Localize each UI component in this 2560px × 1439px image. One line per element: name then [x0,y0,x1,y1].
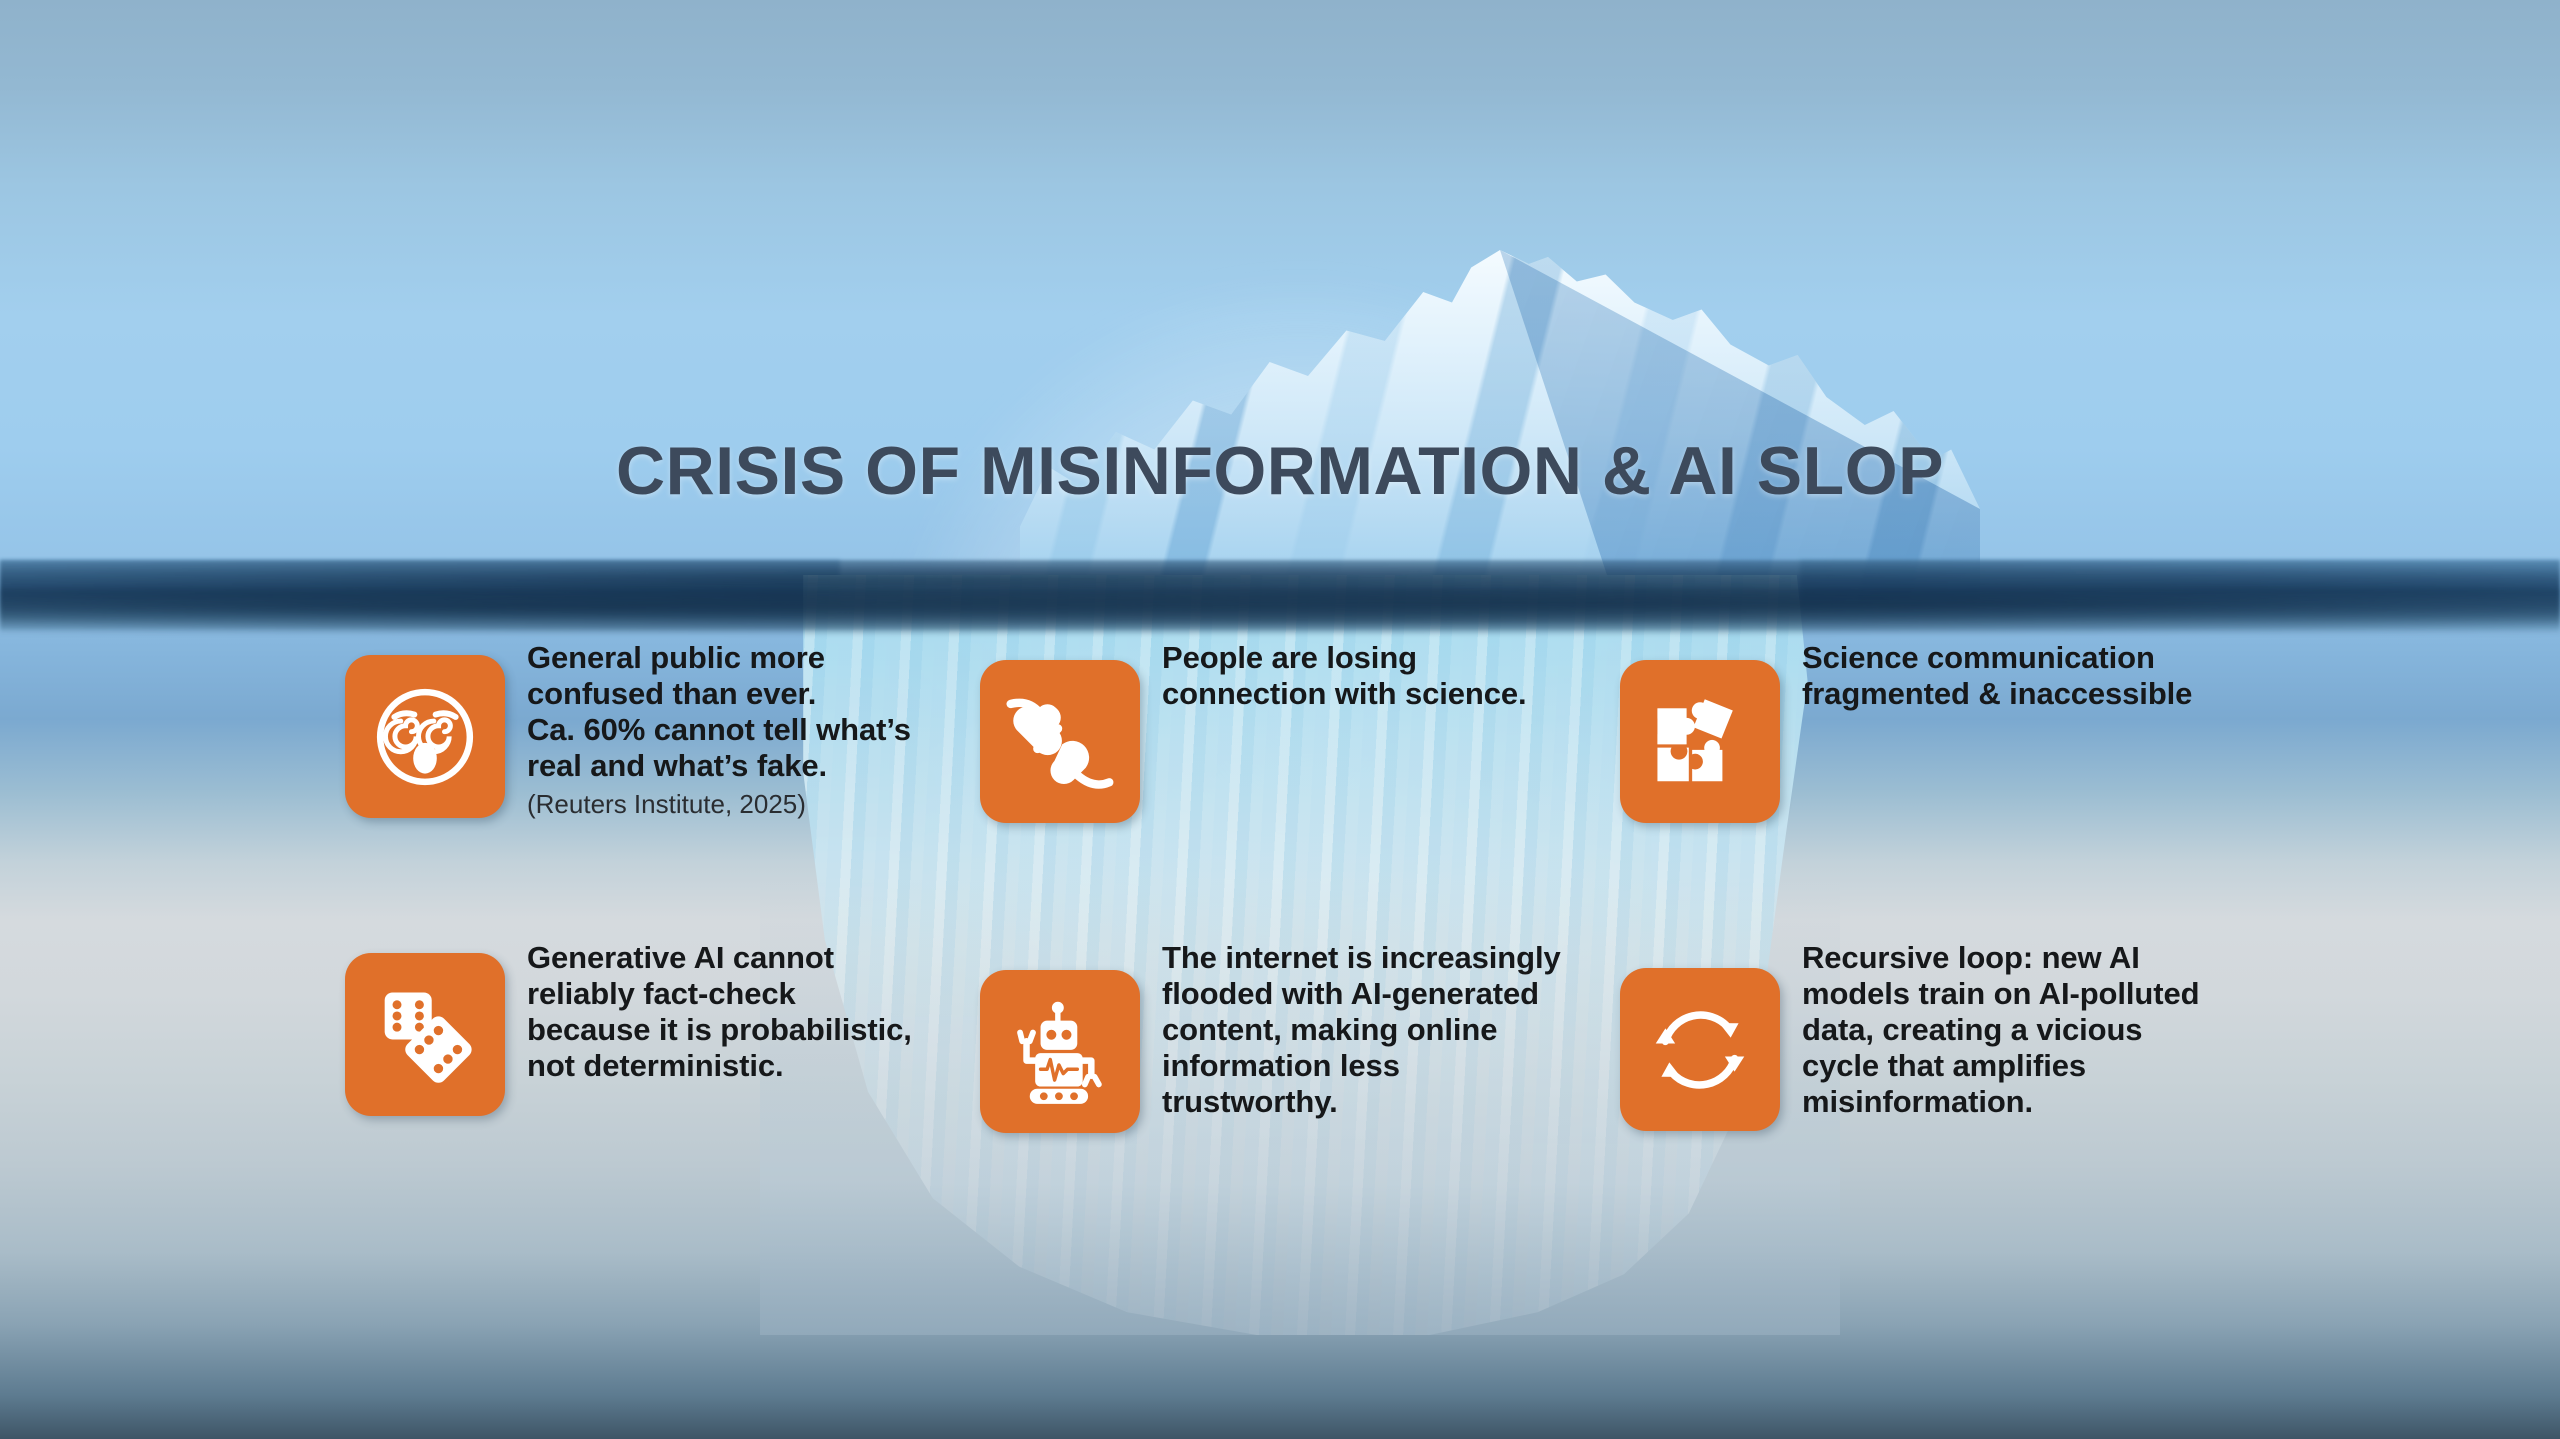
point-text-block: The internet is increasingly flooded wit… [1162,940,1561,1120]
point-source-citation: (Reuters Institute, 2025) [527,788,911,821]
icon-tile-puzzle-pieces[interactable] [1620,660,1780,823]
point-headline: General public more confused than ever. … [527,640,911,784]
point-recursive-loop[interactable]: Recursive loop: new AI models train on A… [1620,940,2280,1131]
icon-tile-unplugged-plug[interactable] [980,660,1140,823]
recycle-loop-icon [1646,996,1754,1104]
point-headline: Science communication fragmented & inacc… [1802,640,2192,712]
point-headline: People are losing connection with scienc… [1162,640,1527,712]
point-headline: Generative AI cannot reliably fact-check… [527,940,912,1084]
robot-icon [1006,998,1114,1106]
point-text-block: People are losing connection with scienc… [1162,640,1527,712]
point-text-block: Science communication fragmented & inacc… [1802,640,2192,712]
point-text-block: General public more confused than ever. … [527,640,911,820]
point-losing-connection[interactable]: People are losing connection with scienc… [980,640,1620,823]
point-public-confused[interactable]: General public more confused than ever. … [345,640,985,820]
puzzle-pieces-icon [1644,686,1756,798]
points-grid: General public more confused than ever. … [0,0,2560,1439]
dizzy-face-icon [366,678,484,796]
icon-tile-dice[interactable] [345,953,505,1116]
point-flooded-internet[interactable]: The internet is increasingly flooded wit… [980,940,1620,1133]
unplugged-plug-icon [1004,686,1116,798]
icon-tile-robot[interactable] [980,970,1140,1133]
point-headline: The internet is increasingly flooded wit… [1162,940,1561,1120]
icon-tile-recycle-loop[interactable] [1620,968,1780,1131]
point-text-block: Generative AI cannot reliably fact-check… [527,940,912,1084]
dice-icon [369,979,481,1091]
point-fragmented-scicomm[interactable]: Science communication fragmented & inacc… [1620,640,2280,823]
point-probabilistic-ai[interactable]: Generative AI cannot reliably fact-check… [345,940,985,1116]
point-text-block: Recursive loop: new AI models train on A… [1802,940,2199,1120]
point-headline: Recursive loop: new AI models train on A… [1802,940,2199,1120]
slide-canvas: CRISIS OF MISINFORMATION & AI SLOP Gener… [0,0,2560,1439]
icon-tile-dizzy-face[interactable] [345,655,505,818]
